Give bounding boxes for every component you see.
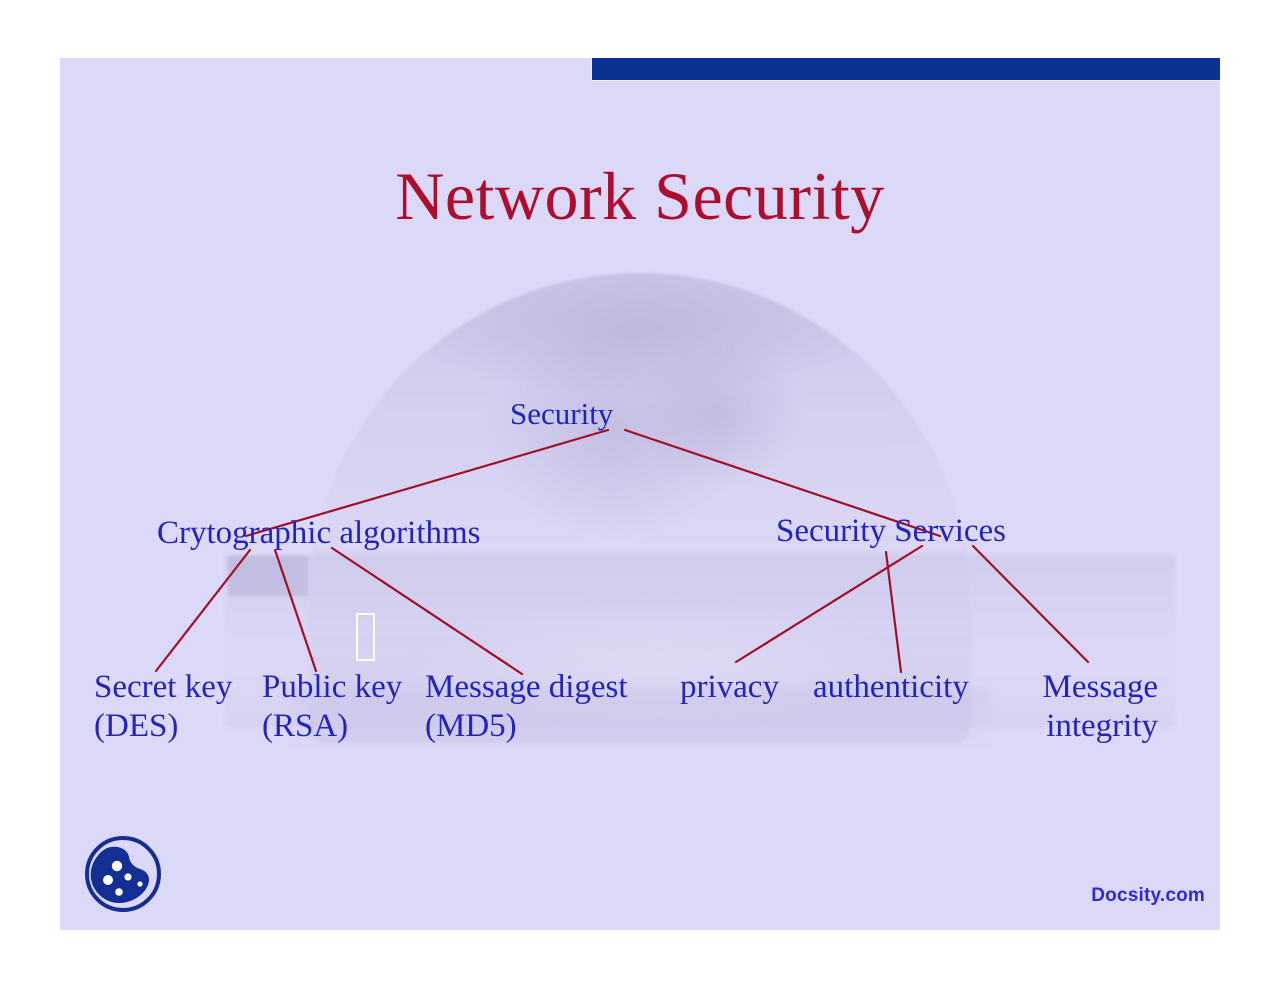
slide-canvas: Network Security Security Crytographic a… (60, 58, 1220, 930)
connector-services-to-authenticity (886, 552, 901, 672)
tree-connectors (60, 58, 1220, 930)
tree-leaf-authenticity: authenticity (813, 668, 969, 707)
tree-leaf-public-key: Public key (RSA) (262, 668, 402, 746)
security-tree-diagram: Security Crytographic algorithms Securit… (60, 58, 1220, 930)
tree-node-security-services: Security Services (776, 512, 1006, 551)
footer-brand-label: Docsity.com (1091, 885, 1205, 907)
tree-leaf-privacy: privacy (680, 668, 779, 707)
connector-services-to-message-integrity (973, 546, 1088, 662)
connector-crypto-to-public-key (275, 550, 316, 671)
tree-node-security: Security (510, 396, 613, 433)
connector-services-to-privacy (736, 546, 922, 662)
connector-crypto-to-secret-key (156, 550, 250, 671)
tree-leaf-secret-key: Secret key (DES) (94, 668, 232, 746)
docsity-logo (78, 833, 168, 915)
tree-leaf-message-digest: Message digest (MD5) (425, 668, 628, 746)
tree-leaf-message-integrity: Message integrity (960, 668, 1158, 746)
tree-node-crytographic-algorithms: Crytographic algorithms (157, 514, 481, 553)
missing-glyph-box-icon (356, 613, 375, 661)
